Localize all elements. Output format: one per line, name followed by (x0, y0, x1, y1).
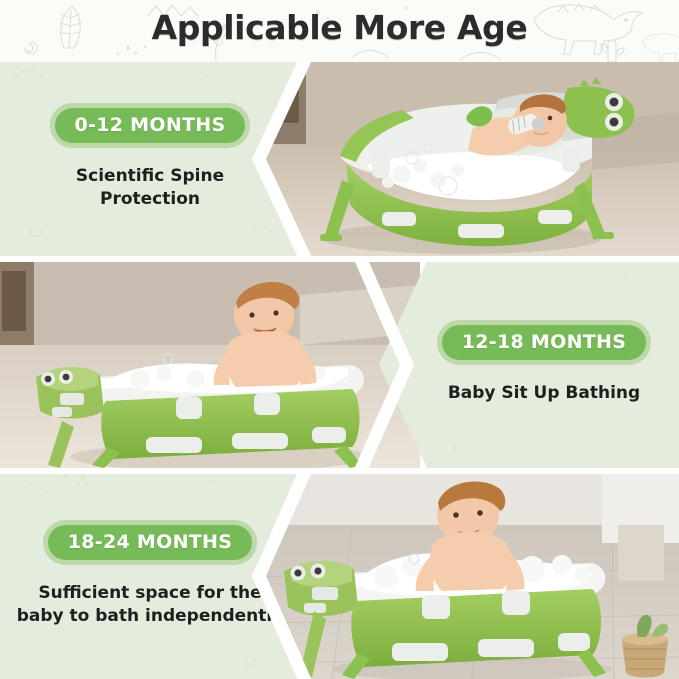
caption-12-18-months: Baby Sit Up Bathing (436, 382, 652, 405)
crocodile-headrest (36, 367, 104, 419)
caption-line: Baby Sit Up Bathing (448, 382, 640, 405)
caption-0-12-months: Scientific Spine Protection (64, 165, 236, 211)
caption-line: baby to bath independently (17, 605, 284, 628)
arc-outline (460, 53, 500, 61)
row-separator (0, 256, 679, 262)
photo-baby-sitting-up-in-green-bathtub (0, 261, 420, 468)
photo-toddler-sitting-in-bubble-filled-bathtub (262, 473, 679, 679)
section-row-18-24-months: 18-24 MONTHS Sufficient space for the ba… (0, 473, 679, 679)
info-panel-18-24-months: 18-24 MONTHS Sufficient space for the ba… (0, 473, 300, 679)
caption-line: Scientific Spine (76, 165, 224, 188)
page-title: Applicable More Age (0, 8, 679, 47)
row-separator (0, 468, 679, 474)
header-banner: Applicable More Age (0, 0, 679, 62)
age-badge-0-12-months: 0-12 MONTHS (55, 108, 246, 143)
caption-line: Protection (76, 188, 224, 211)
section-row-0-12-months: 0-12 MONTHS Scientific Spine Protection (0, 62, 679, 256)
age-badge-12-18-months: 12-18 MONTHS (442, 325, 647, 360)
photo-artwork (0, 261, 420, 468)
caption-line: Sufficient space for the (17, 582, 284, 605)
photo-baby-lying-in-green-folding-bathtub (262, 62, 679, 256)
age-badge-18-24-months: 18-24 MONTHS (48, 525, 253, 560)
crocodile-headrest (284, 561, 358, 616)
photo-artwork (262, 473, 679, 679)
photo-artwork (262, 62, 679, 256)
info-panel-12-18-months: 12-18 MONTHS Baby Sit Up Bathing (379, 261, 679, 468)
infographic-page: Applicable More Age (0, 0, 679, 679)
section-row-12-18-months: 12-18 MONTHS Baby Sit Up Bathing (0, 261, 679, 468)
caption-18-24-months: Sufficient space for the baby to bath in… (5, 582, 296, 628)
info-panel-0-12-months: 0-12 MONTHS Scientific Spine Protection (0, 62, 300, 256)
arc-outline (352, 51, 388, 59)
